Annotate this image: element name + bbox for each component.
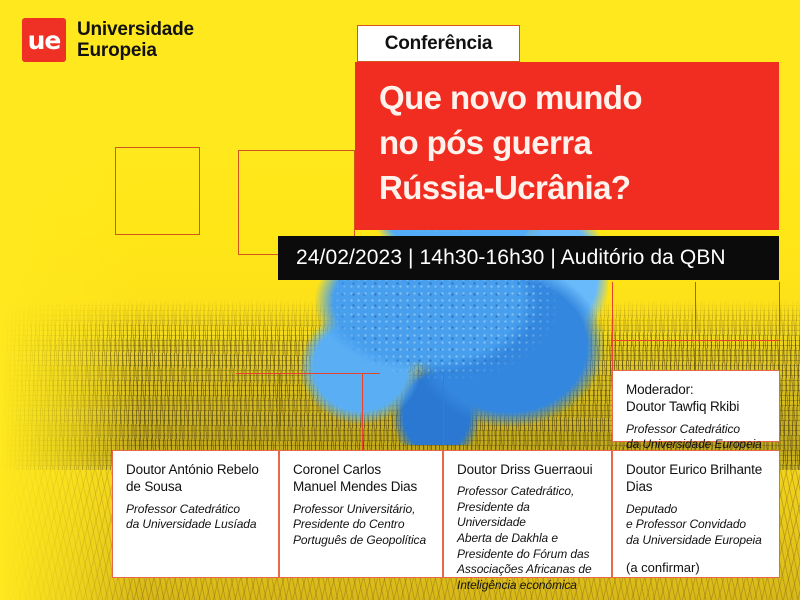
grid-line-vertical-left [443,373,444,451]
speaker-name: Doutor António Rebelo de Sousa [126,461,266,496]
speaker-card: Doutor Driss Guerraoui Professor Catedrá… [443,450,612,578]
grid-line-vertical-a [279,373,280,451]
university-logo: ue Universidade Europeia [22,18,194,62]
grid-line-vertical-d [695,282,696,372]
title-line-3: Rússia-Ucrânia? [379,166,757,211]
title-line-2: no pós guerra [379,121,757,166]
grid-line-horizontal-mid [236,373,380,374]
speaker-card: Doutor Eurico Brilhante Dias Deputado e … [612,450,780,578]
speaker-name: Doutor Driss Guerraoui [457,461,599,478]
moderator-card: Moderador: Doutor Tawfiq Rkibi Professor… [612,370,780,442]
speaker-role: Deputado e Professor Convidado da Univer… [626,502,767,549]
speaker-name: Coronel Carlos Manuel Mendes Dias [293,461,430,496]
decorative-square-top-left [115,147,200,235]
grid-line-vertical-e [779,282,780,372]
event-details-text: 24/02/2023 | 14h30-16h30 | Auditório da … [296,246,726,270]
speaker-role: Professor Catedrático, Presidente da Uni… [457,484,599,593]
moderator-name: Doutor Tawfiq Rkibi [626,398,767,415]
conference-title-block: Que novo mundo no pós guerra Rússia-Ucrâ… [355,62,779,230]
event-type-chip: Conferência [357,25,520,62]
ue-logo-mark: ue [22,18,66,62]
event-details-bar: 24/02/2023 | 14h30-16h30 | Auditório da … [278,236,779,280]
grid-line-vertical-b [362,373,363,451]
wordmark-line-2: Europeia [77,40,194,61]
title-line-1: Que novo mundo [379,76,757,121]
speaker-note: (a confirmar) [626,560,767,577]
university-wordmark: Universidade Europeia [77,19,194,62]
speaker-name: Doutor Eurico Brilhante Dias [626,461,767,496]
grid-line-horizontal-right [612,340,780,341]
wordmark-line-1: Universidade [77,19,194,40]
grid-line-vertical-c [612,282,613,372]
moderator-role: Professor Catedrático da Universidade Eu… [626,422,767,453]
speaker-card: Doutor António Rebelo de Sousa Professor… [112,450,279,578]
moderator-label: Moderador: [626,381,767,398]
speaker-role: Professor Universitário, Presidente do C… [293,502,430,549]
speaker-role: Professor Catedrático da Universidade Lu… [126,502,266,533]
speaker-card: Coronel Carlos Manuel Mendes Dias Profes… [279,450,443,578]
